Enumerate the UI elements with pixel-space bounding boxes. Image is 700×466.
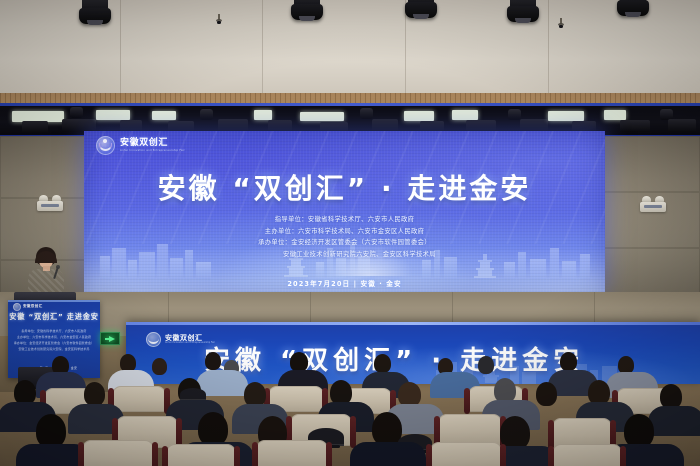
- organizer-line-coorganizer: 安徽工业技术创新研究院六安院、金安区科学技术局: [84, 249, 605, 261]
- ceiling-seam: [262, 0, 263, 96]
- podium-title: 安徽 “双创汇” 走进金安: [8, 312, 100, 322]
- audience-head: [290, 352, 308, 372]
- audience-head: [536, 382, 557, 406]
- emergency-exit-sign-icon: [100, 332, 120, 345]
- audience-head: [374, 354, 391, 373]
- conference-hall-photo: 安徽双创汇 Anhui Innovation and Entrepreneurs…: [0, 0, 700, 466]
- audience-head: [205, 352, 221, 370]
- anhui-shuangchuanghui-emblem-icon: [96, 136, 115, 155]
- moving-head-light: [616, 0, 650, 18]
- auditorium-chair[interactable]: [166, 444, 236, 466]
- audience-head: [198, 412, 228, 446]
- audience-torso: [350, 442, 426, 466]
- audience-torso: [648, 406, 700, 436]
- moving-head-light: [78, 0, 112, 26]
- moving-head-light: [404, 0, 438, 20]
- moving-head-light: [506, 0, 540, 24]
- sprinkler-head: [558, 18, 564, 27]
- screen-logo-lockup: 安徽双创汇 Anhui Innovation and Entrepreneurs…: [96, 136, 185, 155]
- audience-head: [478, 356, 494, 374]
- moving-head-light: [290, 0, 324, 22]
- organizer-line-host: 主办单位：六安市科学技术局、六安市金安区人民政府: [84, 226, 605, 238]
- auditorium-chair[interactable]: [112, 386, 166, 412]
- banner-emblem-icon: [146, 332, 161, 347]
- screen-organizer-lines: 指导单位：安徽省科学技术厅、六安市人民政府 主办单位：六安市科学技术局、六安市金…: [84, 214, 605, 261]
- emergency-light: [640, 196, 666, 212]
- screen-logo-english: Anhui Innovation and Entrepreneurship Fa…: [120, 150, 185, 153]
- audience-head: [152, 358, 167, 375]
- audience-head: [560, 352, 577, 371]
- auditorium-chair[interactable]: [256, 440, 328, 466]
- sprinkler-head: [216, 14, 222, 23]
- screen-headline: 安徽 “双创汇” · 走进金安: [84, 167, 605, 207]
- screen-date-line: 2023年7月20日 | 安徽 · 金安: [84, 278, 605, 288]
- podium-logo-chinese: 安徽双创汇: [23, 304, 42, 309]
- auditorium-chair[interactable]: [430, 442, 502, 466]
- organizer-line-organizer: 承办单位：金安经济开发区管委会（六安市软件园管委会）: [84, 237, 605, 249]
- ceiling-seam: [548, 0, 549, 96]
- led-stage-screen: 安徽双创汇 Anhui Innovation and Entrepreneurs…: [84, 131, 605, 292]
- emergency-light: [37, 195, 63, 211]
- podium-emblem-icon: [13, 303, 21, 311]
- auditorium-chair[interactable]: [82, 440, 154, 466]
- auditorium-chair[interactable]: [552, 444, 622, 466]
- ceiling-seam: [120, 0, 121, 96]
- audience-head: [84, 382, 105, 406]
- podium-organizer-lines: 指导单位：安徽省科学技术厅、六安市人民政府 主办单位：六安市科学技术局、六安市金…: [8, 328, 100, 352]
- audience-head: [36, 414, 66, 448]
- organizer-line-guidance: 指导单位：安徽省科学技术厅、六安市人民政府: [84, 214, 605, 226]
- screen-logo-chinese: 安徽双创汇: [120, 139, 185, 148]
- audience-head: [624, 414, 654, 448]
- audience-seating: [0, 352, 700, 466]
